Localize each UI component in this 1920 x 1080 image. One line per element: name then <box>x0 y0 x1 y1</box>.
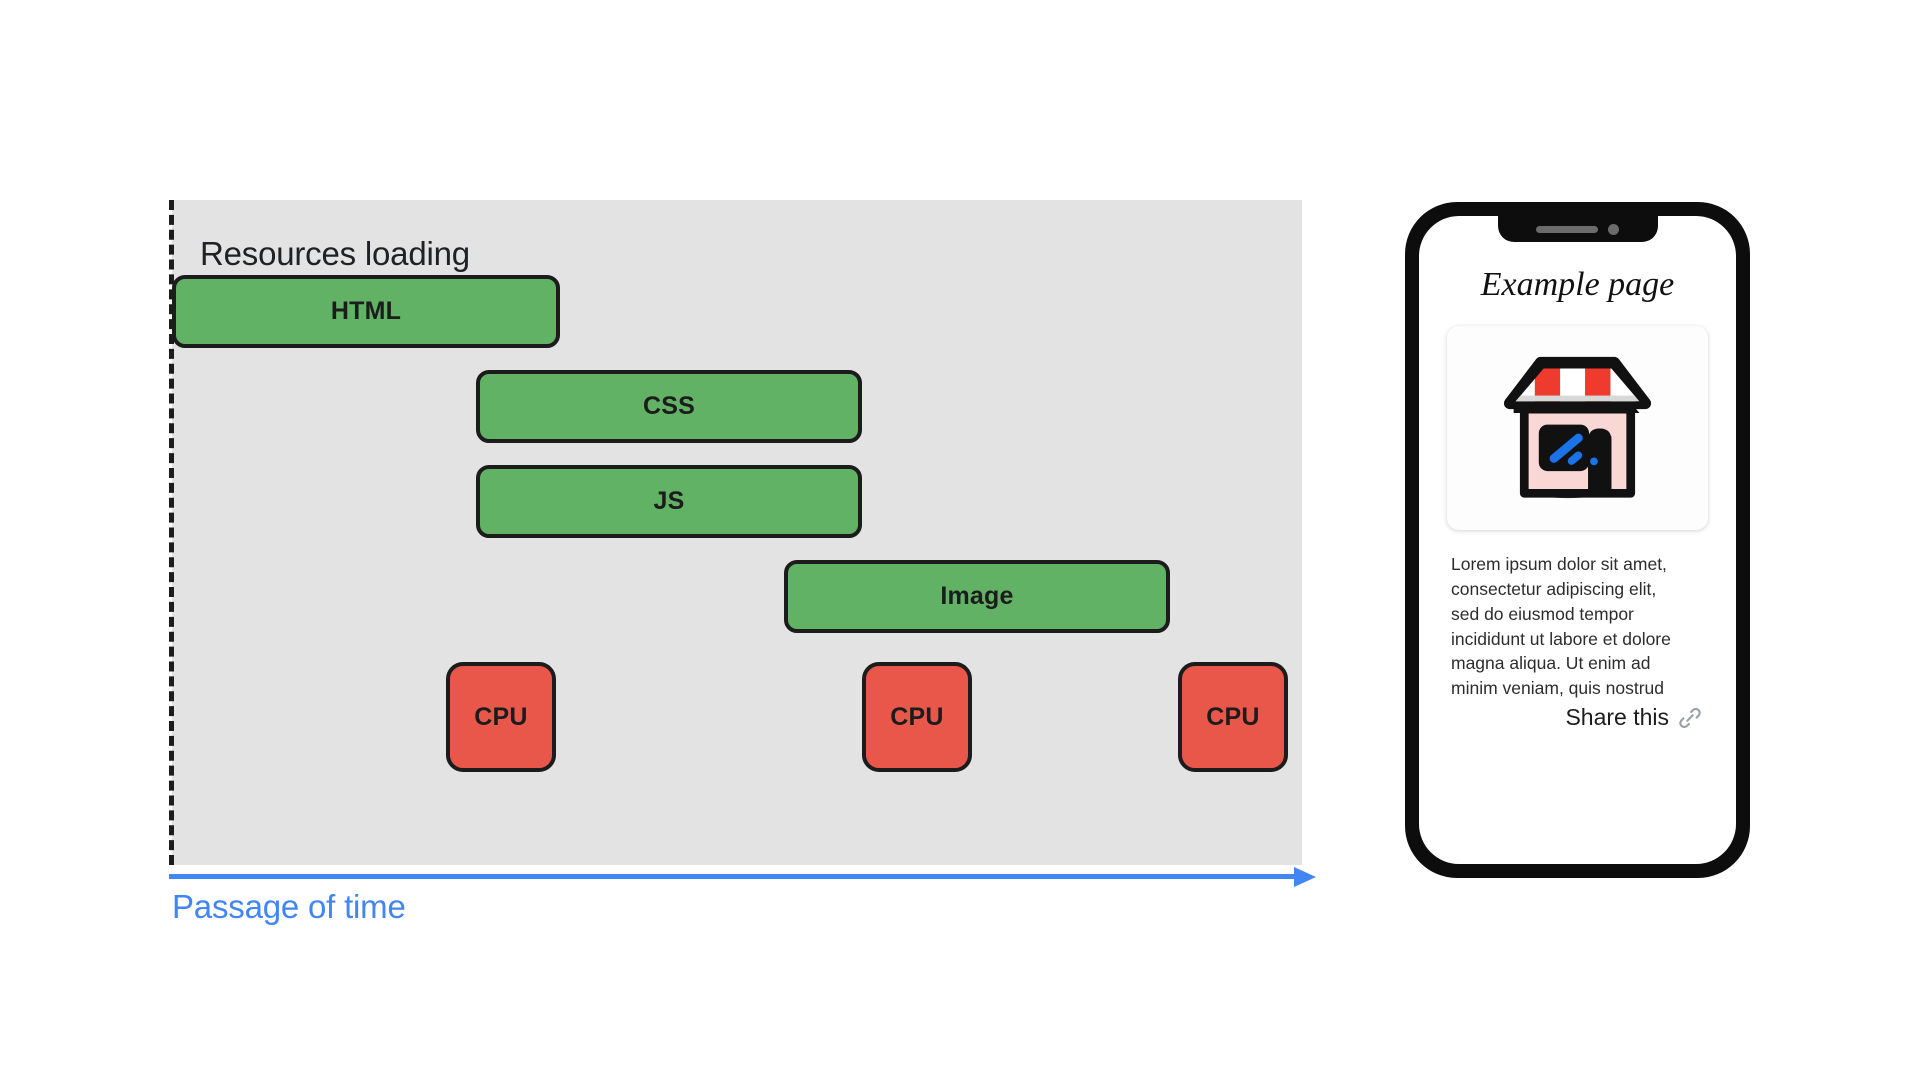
share-this-label: Share this <box>1565 704 1669 731</box>
share-this-action[interactable]: Share this <box>1565 704 1703 731</box>
time-axis-line <box>169 874 1302 879</box>
storefront-icon <box>1500 353 1655 503</box>
page-body-text: Lorem ipsum dolor sit amet, consectetur … <box>1451 552 1689 701</box>
front-camera-icon <box>1608 224 1619 235</box>
time-axis-arrow <box>169 865 1319 889</box>
speaker-grille-icon <box>1536 226 1598 233</box>
link-icon <box>1677 705 1703 731</box>
arrow-right-icon <box>1294 867 1316 887</box>
cpu-bar-label: CPU <box>1206 703 1259 732</box>
resource-bar-label: HTML <box>331 297 401 326</box>
resource-bar-html: HTML <box>172 275 560 348</box>
cpu-bar-2: CPU <box>862 662 972 772</box>
cpu-bar-1: CPU <box>446 662 556 772</box>
resource-bar-label: Image <box>940 582 1013 611</box>
page-title: Example page <box>1419 266 1736 304</box>
time-axis-label: Passage of time <box>172 888 406 926</box>
image-card <box>1447 326 1708 530</box>
phone-screen: Example page <box>1419 216 1736 864</box>
cpu-bar-label: CPU <box>890 703 943 732</box>
navigation-start-dashed-line <box>169 200 174 865</box>
phone-mockup: Example page <box>1405 202 1750 878</box>
resource-bar-label: JS <box>654 487 685 516</box>
resource-bar-label: CSS <box>643 392 695 421</box>
cpu-bar-label: CPU <box>474 703 527 732</box>
resource-bar-image: Image <box>784 560 1170 633</box>
resources-loading-timeline: Resources loading HTML CSS JS Image CPU … <box>172 200 1302 865</box>
timeline-title: Resources loading <box>200 235 470 273</box>
resource-bar-css: CSS <box>476 370 862 443</box>
cpu-bar-3: CPU <box>1178 662 1288 772</box>
resource-bar-js: JS <box>476 465 862 538</box>
phone-notch <box>1498 216 1658 242</box>
